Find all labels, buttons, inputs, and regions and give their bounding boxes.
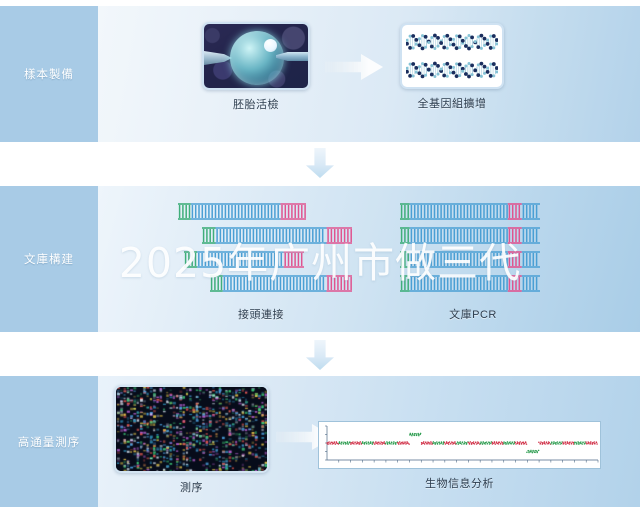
stage-body-sample-prep: 胚胎活檢 全基因組擴增 — [98, 6, 640, 142]
polar-body-shape — [264, 39, 277, 52]
dna-helix-strand-top — [406, 32, 498, 52]
pgt-workflow-diagram: 樣本製備 胚胎活檢 — [0, 0, 640, 513]
caption-sequencing: 測序 — [180, 479, 203, 495]
stage-row-library-construction: 文庫構建 接頭連接 文庫PCR — [0, 186, 640, 332]
stage-label-high-throughput-sequencing: 高通量測序 — [0, 376, 98, 507]
stage-row-sequencing: 高通量測序 測序 生物信息分析 — [0, 376, 640, 507]
sequencing-gel-image — [114, 385, 269, 473]
caption-embryo-biopsy: 胚胎活檢 — [233, 96, 279, 112]
panel-bioinformatics: 生物信息分析 — [318, 421, 601, 491]
arrow-right-icon — [325, 54, 383, 80]
stage-label-library-construction: 文庫構建 — [0, 186, 98, 332]
caption-adapter-ligation: 接頭連接 — [238, 306, 284, 322]
cnv-plot-svg — [319, 422, 601, 469]
dna-ladder-group-ligation — [176, 200, 366, 300]
holding-pipette-icon — [204, 51, 232, 65]
dna-helix-image — [400, 23, 504, 89]
panel-sequencing: 測序 — [114, 385, 269, 495]
cnv-plot-chart — [318, 421, 601, 469]
dna-ladder-svg-left — [176, 200, 366, 300]
inner-cell-mass-shape — [240, 56, 266, 75]
stage-label-sample-prep: 樣本製備 — [0, 6, 98, 142]
stage-body-sequencing: 測序 生物信息分析 — [98, 376, 640, 507]
dna-ladder-svg-right — [398, 200, 548, 300]
caption-bioinformatics: 生物信息分析 — [425, 475, 494, 491]
caption-wga: 全基因組擴增 — [418, 95, 487, 111]
arrow-down-icon-2 — [306, 340, 334, 370]
stage-row-sample-prep: 樣本製備 胚胎活檢 — [0, 6, 640, 142]
panel-adapter-ligation: 接頭連接 — [176, 200, 366, 322]
panel-embryo-biopsy: 胚胎活檢 — [202, 22, 310, 112]
panel-library-pcr: 文庫PCR — [398, 200, 548, 322]
panel-wga: 全基因組擴增 — [400, 23, 504, 111]
dna-helix-strand-bottom — [406, 60, 498, 80]
stage-body-library-construction: 接頭連接 文庫PCR — [98, 186, 640, 332]
embryo-image — [202, 22, 310, 90]
arrow-down-icon-1 — [306, 148, 334, 178]
caption-library-pcr: 文庫PCR — [449, 306, 497, 322]
dna-ladder-group-pcr — [398, 200, 548, 300]
